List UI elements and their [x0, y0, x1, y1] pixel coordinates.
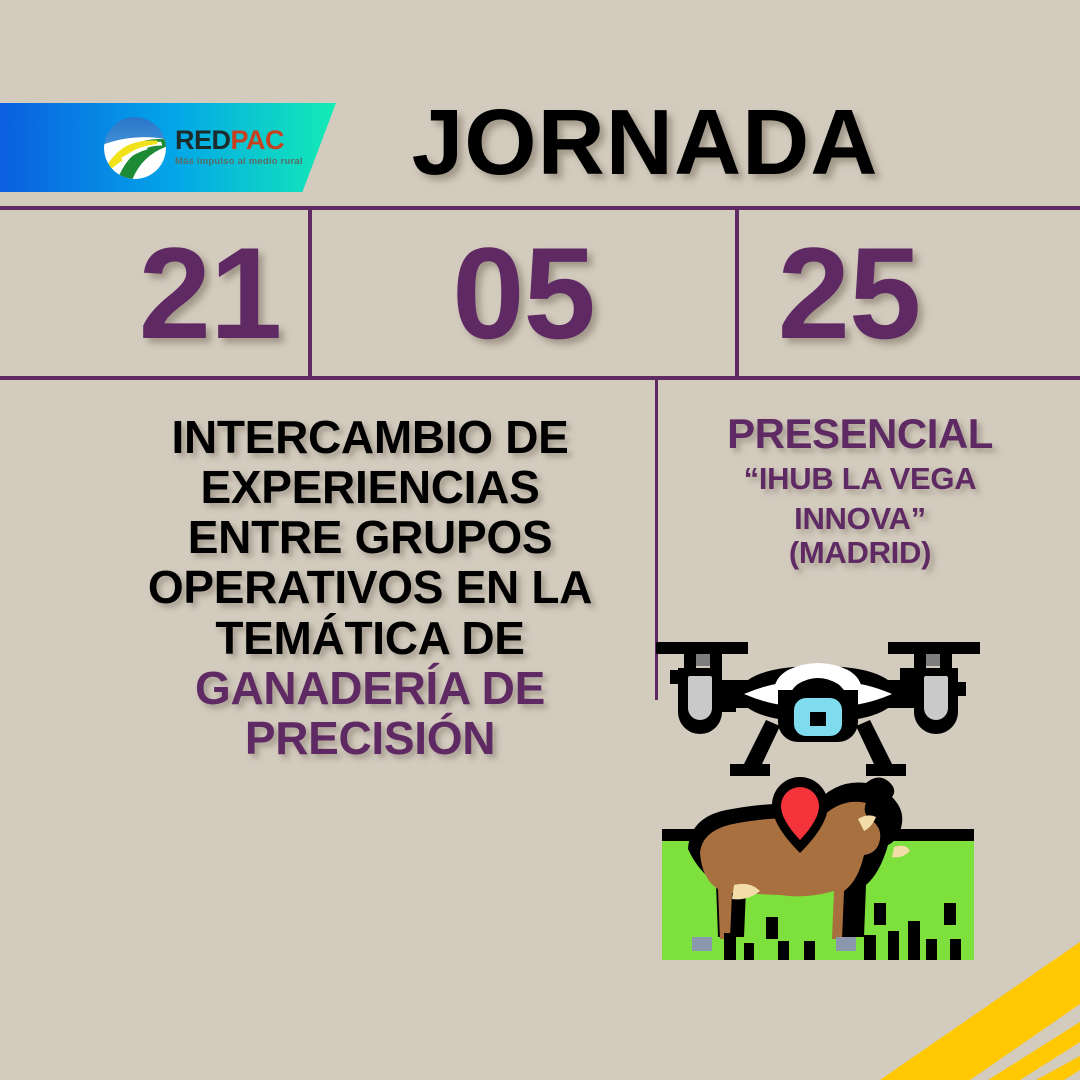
date-month: 05: [312, 206, 735, 380]
headline-line-3: ENTRE GRUPOS: [100, 512, 640, 562]
headline-line-4: OPERATIVOS EN LA: [100, 562, 640, 612]
page-title: JORNADA: [380, 96, 910, 189]
event-headline: INTERCAMBIO DE EXPERIENCIAS ENTRE GRUPOS…: [100, 412, 640, 763]
headline-line-1: INTERCAMBIO DE: [100, 412, 640, 462]
venue-place-line-2: INNOVA”: [660, 502, 1060, 536]
date-day: 21: [110, 206, 310, 380]
venue-place-line-1: “IHUB LA VEGA: [660, 462, 1060, 496]
redpac-wordmark: REDPAC Más impulso al medio rural: [175, 127, 303, 169]
date-year: 25: [739, 206, 959, 380]
event-date: 21 05 25: [0, 206, 1080, 380]
redpac-brand-banner: REDPAC Más impulso al medio rural: [0, 103, 336, 192]
headline-accent-2: PRECISIÓN: [100, 713, 640, 763]
redpac-logo-icon: [104, 117, 166, 179]
event-poster: REDPAC Más impulso al medio rural JORNAD…: [0, 0, 1080, 1080]
drone-icon: [648, 628, 988, 778]
cow-with-location-pin-icon: [648, 775, 988, 980]
redpac-name-pac: PAC: [231, 125, 285, 155]
venue-block: PRESENCIAL “IHUB LA VEGA INNOVA” (MADRID…: [660, 412, 1060, 570]
redpac-name-red: RED: [175, 125, 231, 155]
redpac-name: REDPAC: [175, 127, 303, 154]
redpac-tagline: Más impulso al medio rural: [175, 157, 303, 167]
headline-line-2: EXPERIENCIAS: [100, 462, 640, 512]
venue-mode: PRESENCIAL: [660, 412, 1060, 456]
headline-accent-1: GANADERÍA DE: [100, 663, 640, 713]
headline-line-5: TEMÁTICA DE: [100, 613, 640, 663]
venue-city: (MADRID): [660, 536, 1060, 570]
